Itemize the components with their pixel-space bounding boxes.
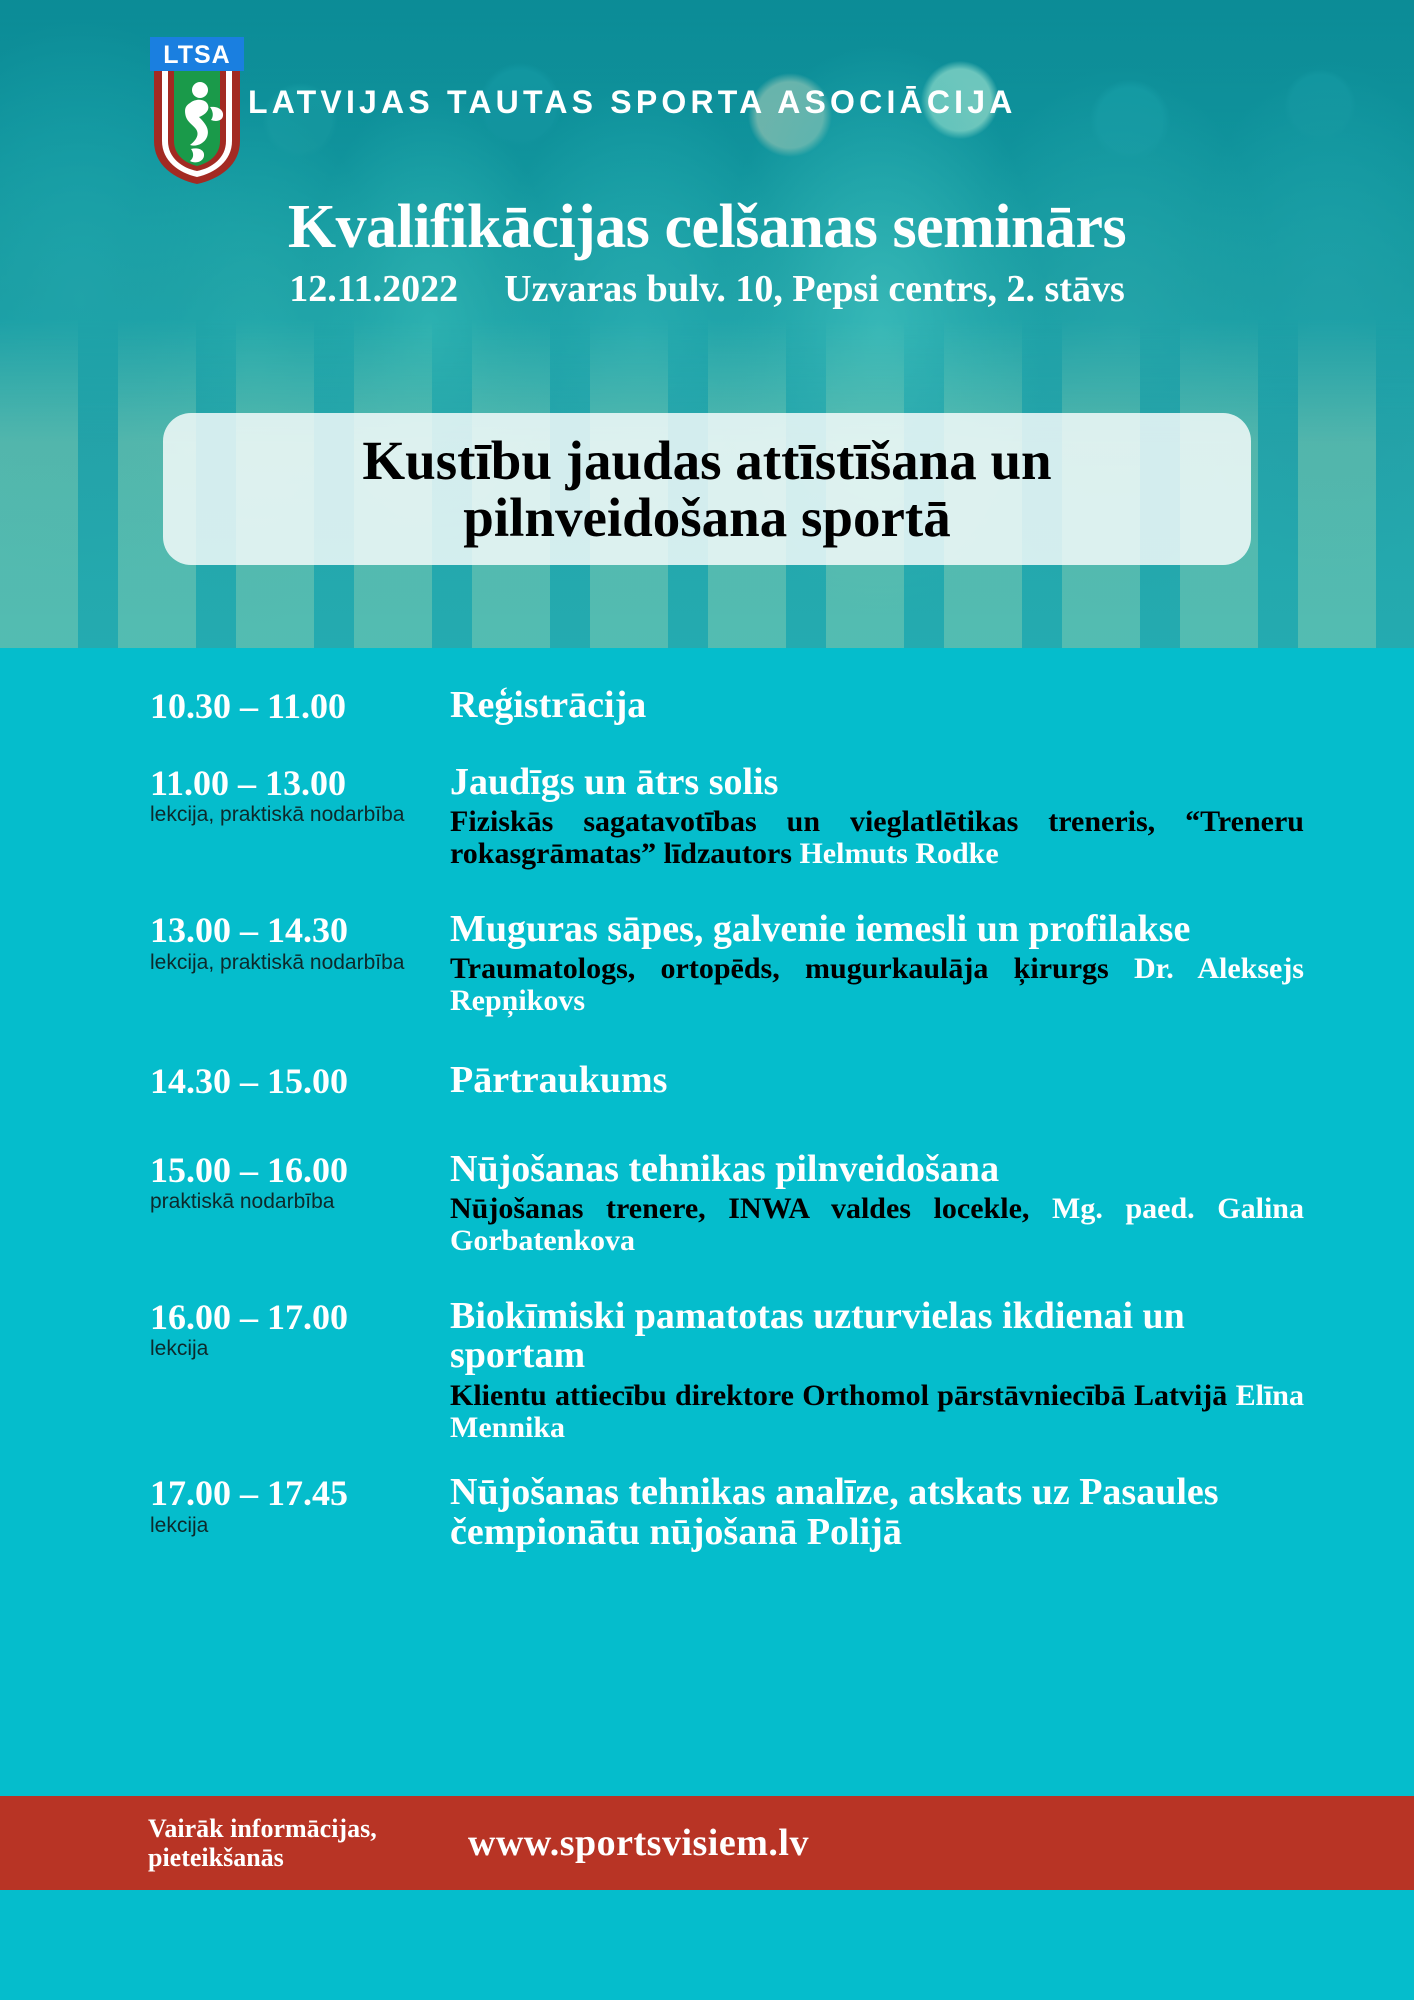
schedule-body-column: Biokīmiski pamatotas uzturvielas ikdiena… [450, 1297, 1414, 1444]
schedule-topic: Jaudīgs un ātrs solis [450, 763, 1304, 803]
schedule-body-column: Jaudīgs un ātrs solis Fiziskās sagatavot… [450, 763, 1414, 870]
seminar-meta: 12.11.2022Uzvaras bulv. 10, Pepsi centrs… [0, 270, 1414, 308]
schedule-speaker-role: Traumatologs, ortopēds, mugurkaulāja ķir… [450, 952, 1134, 985]
schedule-time: 10.30 – 11.00 [150, 688, 450, 725]
schedule-row: 14.30 – 15.00 Pārtraukums [0, 1061, 1414, 1102]
schedule-topic: Muguras sāpes, galvenie iemesli un profi… [450, 910, 1304, 950]
schedule-time: 15.00 – 16.00 [150, 1152, 450, 1189]
schedule-topic: Nūjošanas tehnikas pilnveidošana [450, 1150, 1304, 1190]
schedule-row: 17.00 – 17.45 lekcija Nūjošanas tehnikas… [0, 1473, 1414, 1552]
schedule-time-column: 16.00 – 17.00 lekcija [150, 1297, 450, 1444]
schedule-time-column: 10.30 – 11.00 [150, 686, 450, 727]
schedule-time: 17.00 – 17.45 [150, 1475, 450, 1512]
schedule-row: 10.30 – 11.00 Reģistrācija [0, 686, 1414, 727]
main-title: Kustību jaudas attīstīšana un pilnveidoš… [332, 432, 1081, 546]
organization-name: LATVIJAS TAUTAS SPORTA ASOCIĀCIJA [248, 84, 1017, 121]
schedule-time-column: 14.30 – 15.00 [150, 1061, 450, 1102]
schedule-speaker-role: Klientu attiecību direktore Orthomol pār… [450, 1379, 1236, 1412]
seminar-date: 12.11.2022 [289, 268, 458, 310]
seminar-venue: Uzvaras bulv. 10, Pepsi centrs, 2. stāvs [504, 268, 1125, 310]
ltsa-logo-icon: LTSA [150, 37, 244, 185]
schedule-kind: lekcija [150, 1514, 450, 1538]
footer-more-info: Vairāk informācijas, pieteikšanās [148, 1814, 468, 1872]
schedule-time-column: 17.00 – 17.45 lekcija [150, 1473, 450, 1552]
schedule-speaker-role: Nūjošanas trenere, INWA valdes locekle, [450, 1192, 1052, 1225]
schedule-row: 11.00 – 13.00 lekcija, praktiskā nodarbī… [0, 763, 1414, 870]
schedule-kind: lekcija, praktiskā nodarbība [150, 803, 450, 827]
schedule-list: 10.30 – 11.00 Reģistrācija 11.00 – 13.00… [0, 648, 1414, 1578]
schedule-time: 14.30 – 15.00 [150, 1063, 450, 1100]
schedule-row: 16.00 – 17.00 lekcija Biokīmiski pamatot… [0, 1297, 1414, 1444]
schedule-row: 15.00 – 16.00 praktiskā nodarbība Nūjoša… [0, 1150, 1414, 1257]
schedule-time: 13.00 – 14.30 [150, 912, 450, 949]
schedule-topic: Biokīmiski pamatotas uzturvielas ikdiena… [450, 1297, 1304, 1376]
schedule-topic: Pārtraukums [450, 1061, 1304, 1101]
schedule-kind: praktiskā nodarbība [150, 1190, 450, 1214]
schedule-topic: Nūjošanas tehnikas analīze, atskats uz P… [450, 1473, 1304, 1552]
schedule-speaker-name: Helmuts Rodke [799, 837, 998, 870]
schedule-time-column: 13.00 – 14.30 lekcija, praktiskā nodarbī… [150, 910, 450, 1017]
schedule-time-column: 11.00 – 13.00 lekcija, praktiskā nodarbī… [150, 763, 450, 870]
schedule-time: 11.00 – 13.00 [150, 765, 450, 802]
main-title-line-1: Kustību jaudas attīstīšana un [362, 432, 1051, 489]
schedule-body-column: Nūjošanas tehnikas analīze, atskats uz P… [450, 1473, 1414, 1552]
svg-text:LTSA: LTSA [163, 41, 230, 69]
schedule-time: 16.00 – 17.00 [150, 1299, 450, 1336]
schedule-body-column: Reģistrācija [450, 686, 1414, 727]
schedule-speaker: Traumatologs, ortopēds, mugurkaulāja ķir… [450, 953, 1304, 1017]
schedule-topic: Reģistrācija [450, 686, 1304, 726]
schedule-body-column: Muguras sāpes, galvenie iemesli un profi… [450, 910, 1414, 1017]
schedule-body-column: Nūjošanas tehnikas pilnveidošana Nūjošan… [450, 1150, 1414, 1257]
schedule-time-column: 15.00 – 16.00 praktiskā nodarbība [150, 1150, 450, 1257]
ltsa-logo: LTSA [150, 37, 244, 185]
seminar-title: Kvalifikācijas celšanas seminārs [0, 196, 1414, 258]
schedule-speaker: Klientu attiecību direktore Orthomol pār… [450, 1380, 1304, 1444]
schedule-speaker: Nūjošanas trenere, INWA valdes locekle, … [450, 1193, 1304, 1257]
main-title-card: Kustību jaudas attīstīšana un pilnveidoš… [163, 413, 1251, 565]
schedule-kind: lekcija [150, 1337, 450, 1361]
schedule-row: 13.00 – 14.30 lekcija, praktiskā nodarbī… [0, 910, 1414, 1017]
schedule-kind: lekcija, praktiskā nodarbība [150, 951, 450, 975]
schedule-speaker: Fiziskās sagatavotības un vieglatlētikas… [450, 806, 1304, 870]
schedule-body-column: Pārtraukums [450, 1061, 1414, 1102]
footer-bar: Vairāk informācijas, pieteikšanās www.sp… [0, 1796, 1414, 1890]
footer-website[interactable]: www.sportsvisiem.lv [468, 1821, 809, 1865]
main-title-line-2: pilnveidošana sportā [362, 489, 1051, 546]
